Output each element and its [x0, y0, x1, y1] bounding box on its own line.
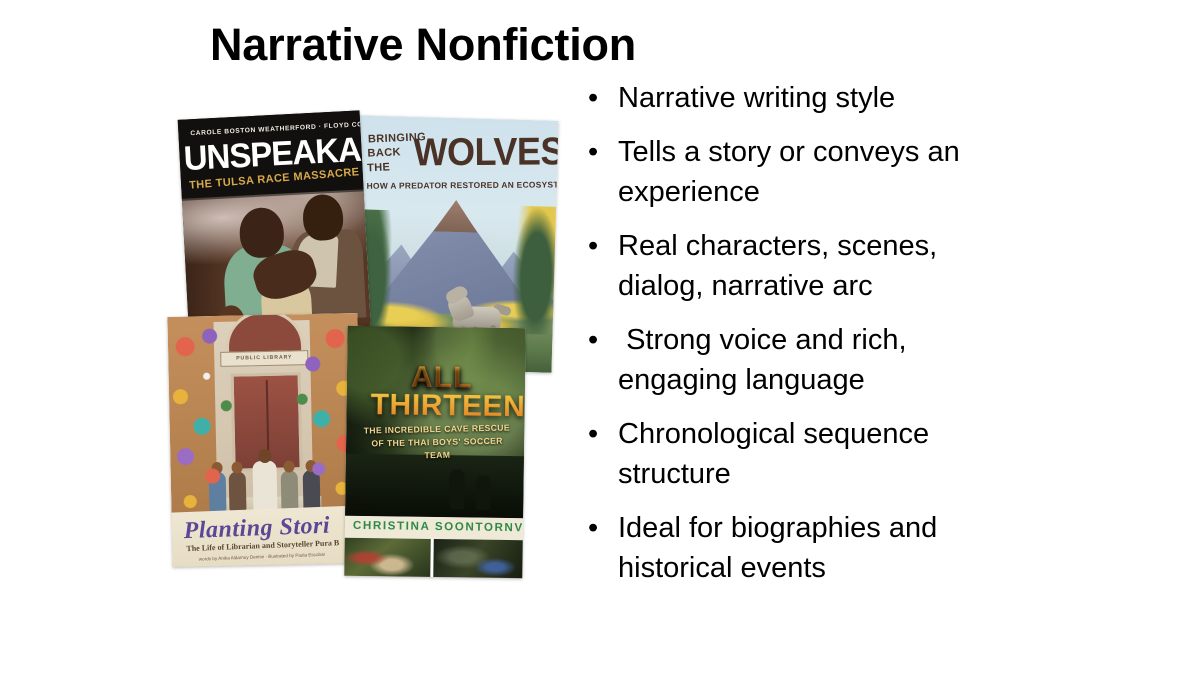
book-subtitle: HOW A PREDATOR RESTORED AN ECOSYSTEM	[367, 179, 553, 190]
bullet-marker-icon: •	[588, 414, 618, 454]
book-title: WOLVES	[413, 129, 558, 175]
cave-rocks	[345, 454, 524, 518]
book-subtitle: THE INCREDIBLE CAVE RESCUE OF THE THAI B…	[362, 421, 513, 463]
book-title-line-2: BACK	[367, 146, 401, 159]
cover-artwork: PUBLIC LIBRARY Planting Stori The Life o…	[167, 313, 362, 567]
bullet-text: Tells a story or conveys an experience	[618, 132, 1028, 212]
photo-strip	[344, 538, 430, 579]
book-author: CHRISTINA SOONTORNVAT	[353, 519, 523, 534]
list-item: • Real characters, scenes, dialog, narra…	[588, 226, 1028, 306]
photo-strip-row	[344, 538, 525, 579]
bullet-text: Strong voice and rich, engaging language	[618, 320, 1028, 400]
book-title-line-2: THIRTEEN	[370, 388, 525, 424]
bullet-marker-icon: •	[588, 132, 618, 172]
book-cover-planting-stories: PUBLIC LIBRARY Planting Stori The Life o…	[167, 313, 362, 567]
bullet-list: • Narrative writing style • Tells a stor…	[588, 78, 1028, 602]
bullet-text: Chronological sequence structure	[618, 414, 1028, 494]
bullet-marker-icon: •	[588, 508, 618, 548]
rescuer-silhouette	[449, 469, 465, 509]
list-item: • Strong voice and rich, engaging langua…	[588, 320, 1028, 400]
bullet-marker-icon: •	[588, 320, 618, 360]
book-cover-all-thirteen: ALL THIRTEEN THE INCREDIBLE CAVE RESCUE …	[344, 326, 525, 578]
list-item: • Ideal for biographies and historical e…	[588, 508, 1028, 588]
bullet-text: Ideal for biographies and historical eve…	[618, 508, 1028, 588]
cover-artwork: ALL THIRTEEN THE INCREDIBLE CAVE RESCUE …	[344, 326, 525, 578]
bullet-text: Real characters, scenes, dialog, narrati…	[618, 226, 1028, 306]
list-item: • Narrative writing style	[588, 78, 1028, 118]
list-item: • Chronological sequence structure	[588, 414, 1028, 494]
book-credits: words by Anika Aldamuy Denise · illustra…	[199, 552, 325, 562]
pine-tree-right-illustration	[511, 206, 559, 335]
list-item: • Tells a story or conveys an experience	[588, 132, 1028, 212]
page-title: Narrative Nonfiction	[210, 20, 810, 70]
cover-title-band: Planting Stori The Life of Librarian and…	[167, 505, 362, 567]
photo-strip	[433, 539, 525, 578]
bullet-text: Narrative writing style	[618, 78, 1028, 118]
book-title-line-3: THE	[367, 161, 391, 174]
slide-canvas: Narrative Nonfiction • Narrative writing…	[0, 0, 1200, 675]
bullet-marker-icon: •	[588, 78, 618, 118]
bullet-marker-icon: •	[588, 226, 618, 266]
book-cover-collage: CAROLE BOSTON WEATHERFORD · FLOYD COOPER…	[150, 95, 580, 585]
rescuer-silhouette	[475, 476, 490, 510]
